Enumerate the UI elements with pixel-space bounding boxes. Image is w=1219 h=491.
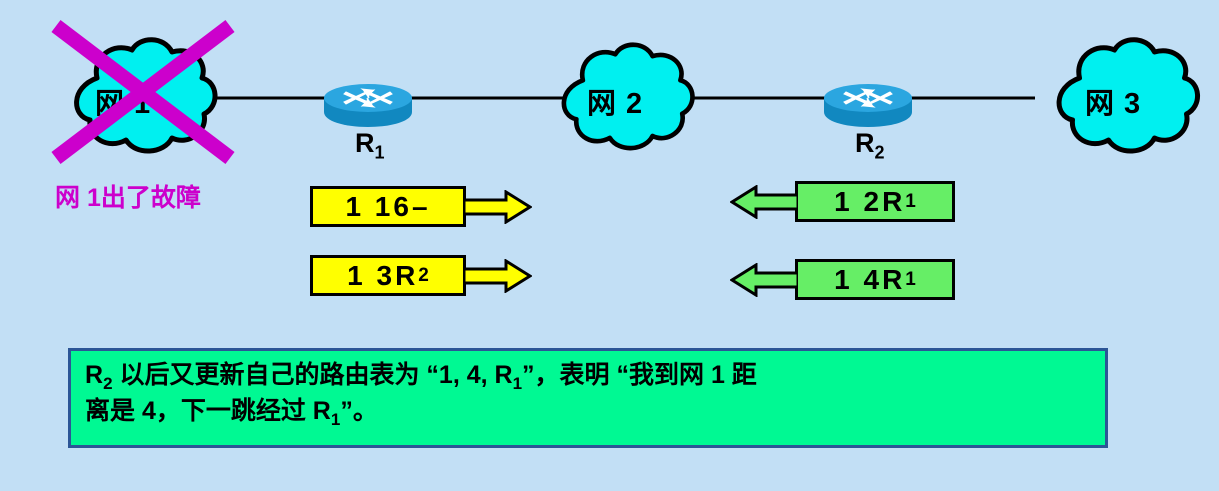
fault-caption: 网 1出了故障 [55,178,201,214]
arrow-left-green-1 [730,185,798,219]
note-line1-b: 以后又更新自己的路由表为 “1, 4, R [113,361,513,389]
message-yellow-2-sub: 2 [418,265,429,287]
diagram-canvas: 网 1 网 1出了故障 R1 网 2 R2 [0,0,1219,491]
message-yellow-2-main: R [395,260,418,292]
message-green-2-main: R [882,264,905,296]
router-r2-label: R2 [855,128,885,163]
arrow-left-green-2 [730,263,798,297]
message-green-1-sub: 1 [905,191,916,213]
message-box-green-2: 1 4 R1 [795,259,955,300]
fault-cross-icon [48,18,238,166]
cloud-label-net2: 网 2 [587,80,643,122]
router-r1-main: R [355,128,375,158]
router-r1-sub: 1 [375,142,385,162]
explanation-note-box: R2 以后又更新自己的路由表为 “1, 4, R1”，表明 “我到网 1 距 离… [68,348,1108,448]
message-yellow-1-prefix: 1 16 [345,191,412,223]
explanation-note-text: R2 以后又更新自己的路由表为 “1, 4, R1”，表明 “我到网 1 距 离… [85,359,1097,431]
message-green-1-main: R [882,186,905,218]
message-box-yellow-1: 1 16 – [310,186,466,227]
note-line1-a: R [85,361,103,389]
message-green-1-prefix: 1 2 [834,186,882,218]
note-line2-a: 离是 4，下一跳经过 R [85,397,331,425]
arrow-right-yellow-2 [464,259,532,293]
message-yellow-2-prefix: 1 3 [347,260,395,292]
message-green-2-prefix: 1 4 [834,264,882,296]
cloud-label-net3: 网 3 [1085,80,1141,122]
message-green-2-sub: 1 [905,269,916,291]
router-r1-label: R1 [355,128,385,163]
router-r2-main: R [855,128,875,158]
message-box-green-1: 1 2 R1 [795,181,955,222]
arrow-right-yellow-1 [464,190,532,224]
router-r1-icon [322,72,414,127]
message-yellow-1-main: – [412,191,431,223]
message-box-yellow-2: 1 3 R2 [310,255,466,296]
router-r2-sub: 2 [875,142,885,162]
note-line2-sub: 1 [331,410,340,429]
note-line1-sub: 2 [103,374,112,393]
note-line1-sub2: 1 [513,374,522,393]
note-line2-b: ”。 [340,397,378,425]
router-r2-icon [822,72,914,127]
note-line1-c: ”，表明 “我到网 1 距 [522,361,757,389]
